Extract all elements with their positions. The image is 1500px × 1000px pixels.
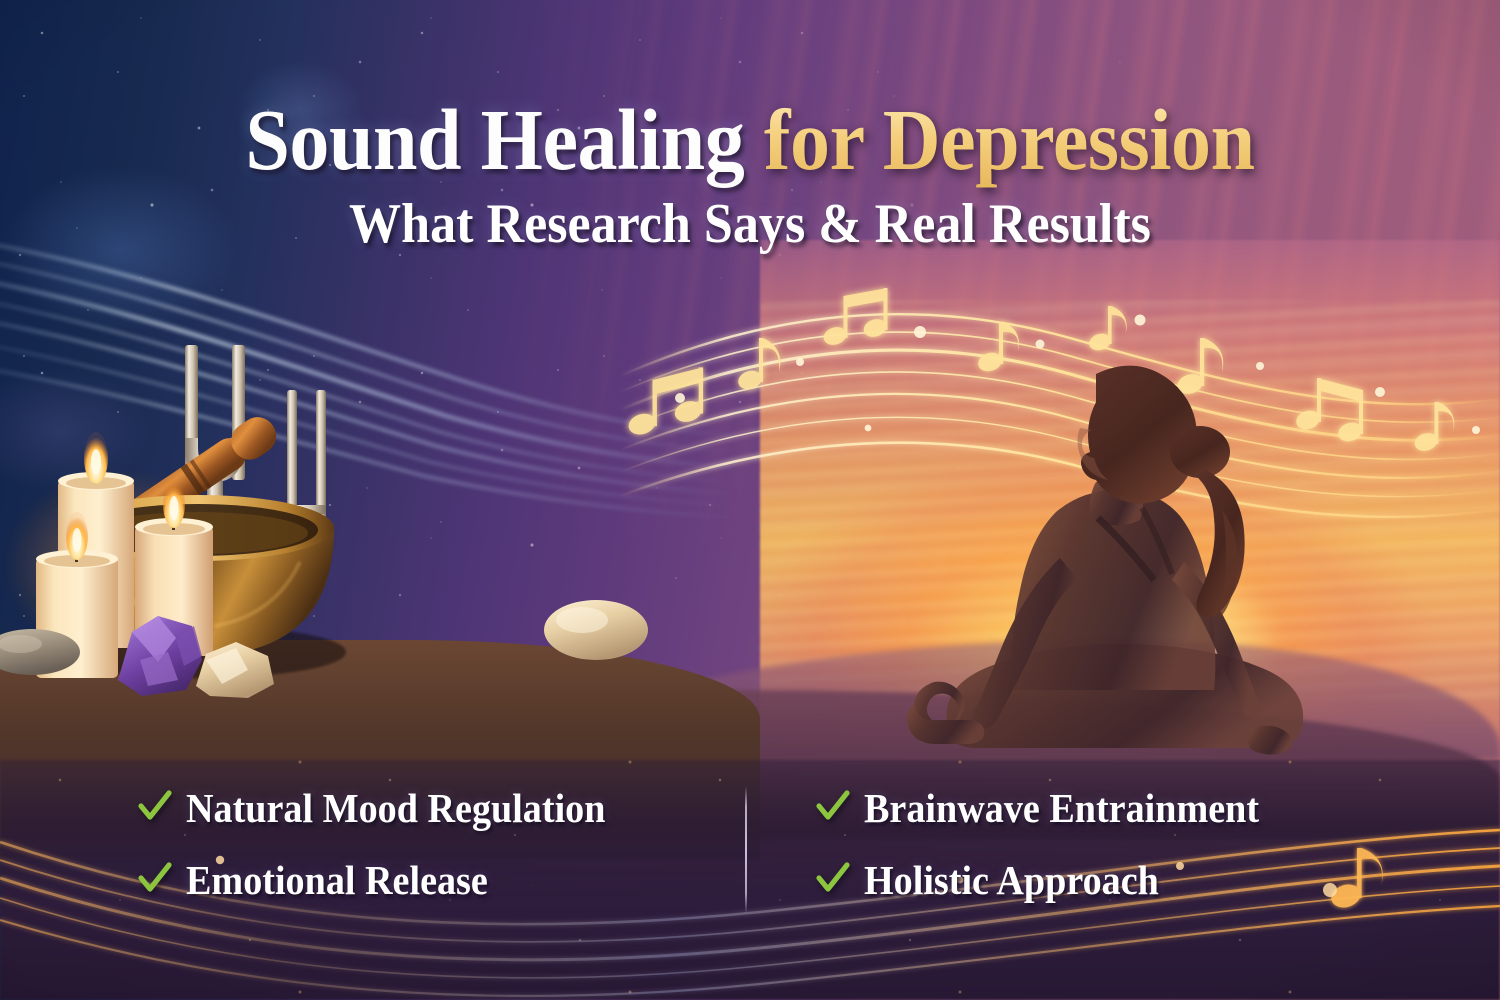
feature-label: Natural Mood Regulation: [186, 788, 605, 829]
feature-label: Brainwave Entrainment: [864, 788, 1259, 829]
title-gold-part: for Depression: [764, 91, 1255, 188]
page-subtitle: What Research Says & Real Results: [53, 196, 1448, 252]
meditating-woman-silhouette: [900, 330, 1380, 760]
check-icon: [138, 789, 172, 823]
feature-label: Emotional Release: [186, 860, 488, 901]
sound-healing-objects: [0, 330, 700, 750]
poster-canvas: Sound Healing for Depression What Resear…: [0, 0, 1500, 1000]
check-icon: [816, 861, 850, 895]
list-item: Holistic Approach: [816, 844, 1289, 916]
feature-list: Natural Mood Regulation Emotional Releas…: [0, 772, 1500, 932]
list-item: Brainwave Entrainment: [816, 772, 1289, 844]
feature-column-left: Natural Mood Regulation Emotional Releas…: [138, 772, 637, 916]
page-title: Sound Healing for Depression: [60, 96, 1440, 183]
list-item: Natural Mood Regulation: [138, 772, 637, 844]
feature-label: Holistic Approach: [864, 860, 1159, 901]
check-icon: [816, 789, 850, 823]
check-icon: [138, 861, 172, 895]
title-white-part: Sound Healing: [245, 91, 763, 188]
quartz-stone-right: [544, 600, 648, 660]
feature-column-right: Brainwave Entrainment Holistic Approach: [816, 772, 1289, 916]
list-item: Emotional Release: [138, 844, 637, 916]
